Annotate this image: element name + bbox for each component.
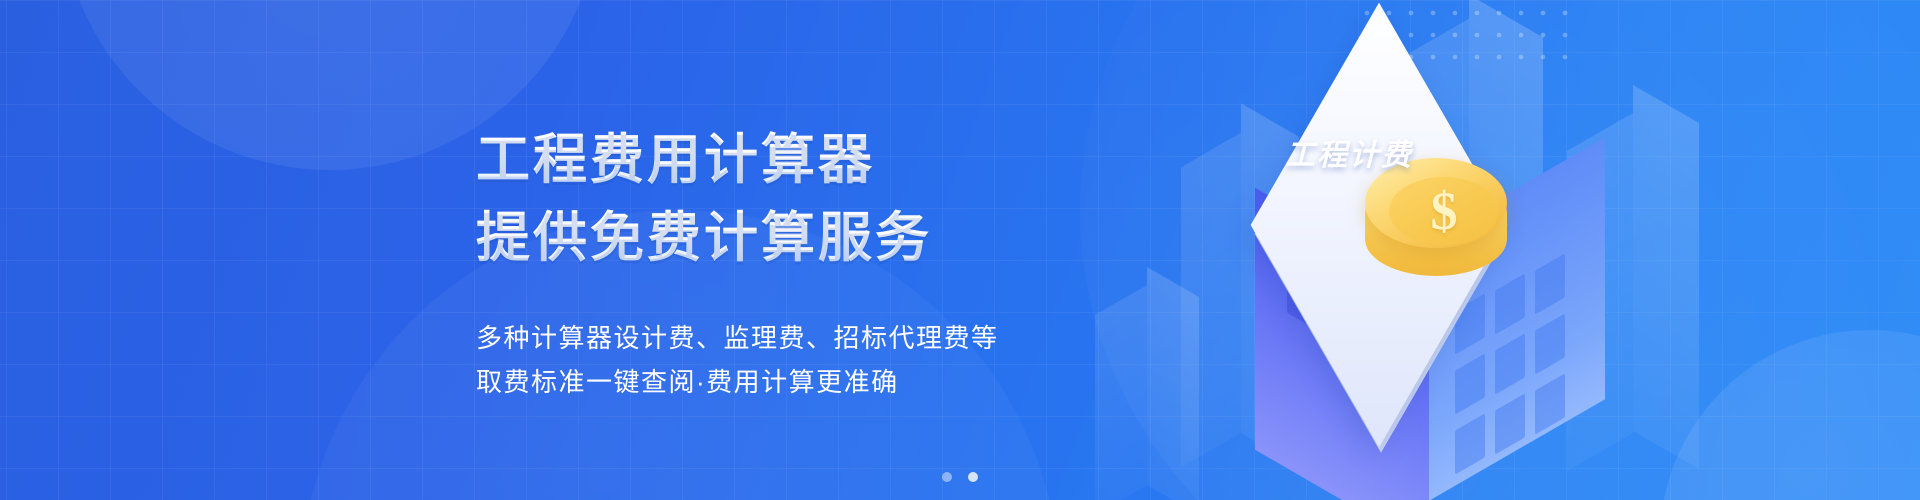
background-tower-g: [1095, 285, 1147, 500]
hero-illustration: $ 工程计费: [1095, 0, 1855, 500]
dollar-sign-icon: $: [1389, 177, 1499, 245]
background-tower-f: [1633, 85, 1699, 469]
headline-line-2: 提供免费计算服务: [476, 206, 1196, 270]
hero-copy-block: 工程费用计算器 提供免费计算服务 多种计算器设计费、监理费、招标代理费等 取费标…: [476, 128, 1196, 404]
subhead-line-1: 多种计算器设计费、监理费、招标代理费等: [476, 316, 1196, 360]
illustration-badge-label: 工程计费: [1285, 130, 1413, 174]
coin-face: $: [1389, 177, 1499, 245]
headline-line-1: 工程费用计算器: [476, 128, 1196, 192]
subhead-line-2: 取费标准一键查阅·费用计算更准确: [476, 360, 1196, 404]
hero-banner: 工程费用计算器 提供免费计算服务 多种计算器设计费、监理费、招标代理费等 取费标…: [0, 0, 1920, 500]
carousel-dots[interactable]: [0, 472, 1920, 482]
carousel-dot-2[interactable]: [968, 472, 978, 482]
carousel-dot-1[interactable]: [942, 472, 952, 482]
background-tower-c: [1181, 133, 1241, 468]
subhead-block: 多种计算器设计费、监理费、招标代理费等 取费标准一键查阅·费用计算更准确: [476, 316, 1196, 404]
